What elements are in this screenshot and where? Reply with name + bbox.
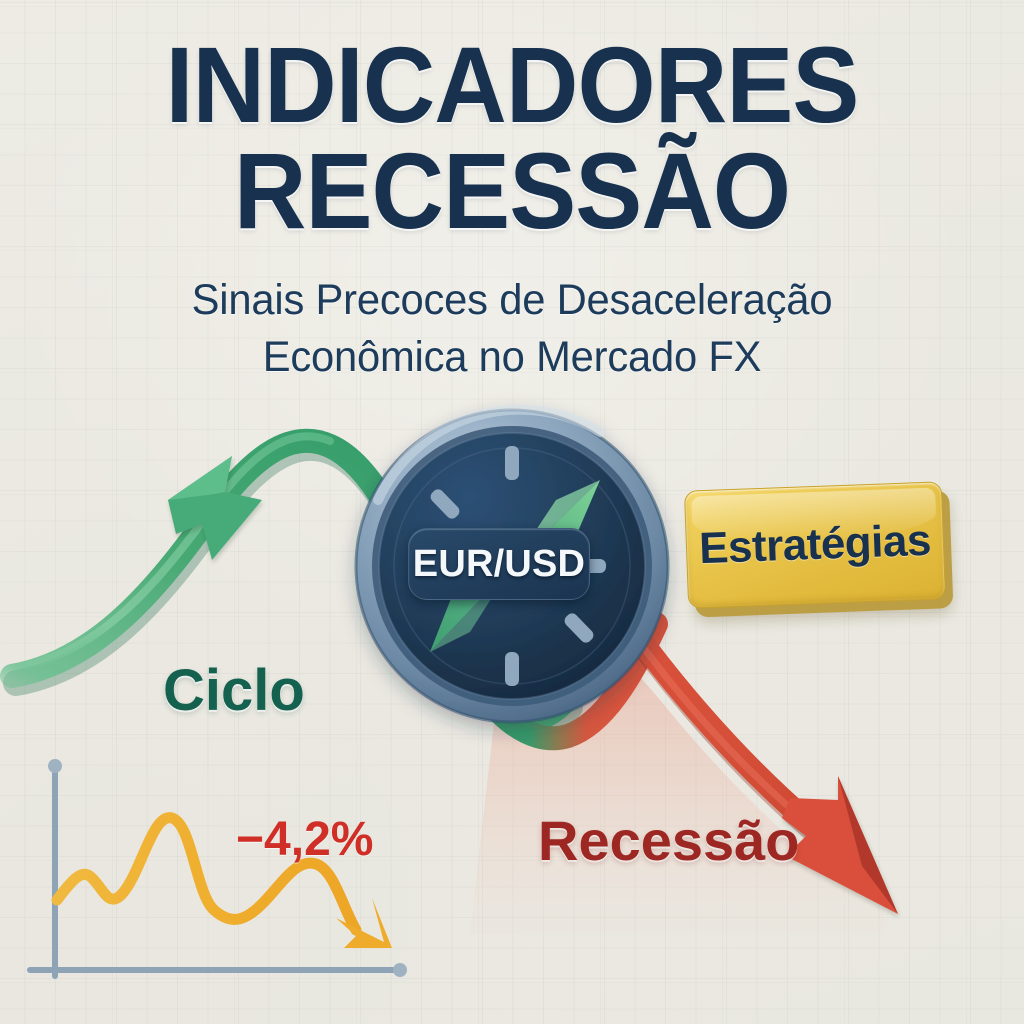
recession-label: Recessão — [538, 808, 800, 873]
currency-pair-label: EUR/USD — [413, 543, 585, 586]
title-line-1: INDICADORES — [36, 34, 988, 136]
strategies-badge-label: Estratégias — [698, 516, 931, 574]
subtitle-line-1: Sinais Precoces de Desaceleração — [15, 272, 1008, 329]
mini-chart-y-cap — [48, 759, 62, 773]
poster-canvas: INDICADORES RECESSÃO Sinais Precoces de … — [0, 0, 1024, 1024]
strategies-badge-face: Estratégias — [684, 481, 946, 608]
subtitle-line-2: Econômica no Mercado FX — [15, 329, 1008, 386]
currency-pair-plate: EUR/USD — [408, 528, 590, 600]
percent-change-label: −4,2% — [236, 812, 373, 867]
title-line-2: RECESSÃO — [36, 140, 988, 242]
cycle-label: Ciclo — [163, 657, 305, 724]
mini-chart — [30, 759, 407, 977]
page-title: INDICADORES RECESSÃO — [0, 34, 1024, 241]
page-subtitle: Sinais Precoces de Desaceleração Econômi… — [0, 272, 1024, 386]
strategies-badge[interactable]: Estratégias — [684, 481, 946, 608]
mini-chart-x-cap — [393, 963, 407, 977]
